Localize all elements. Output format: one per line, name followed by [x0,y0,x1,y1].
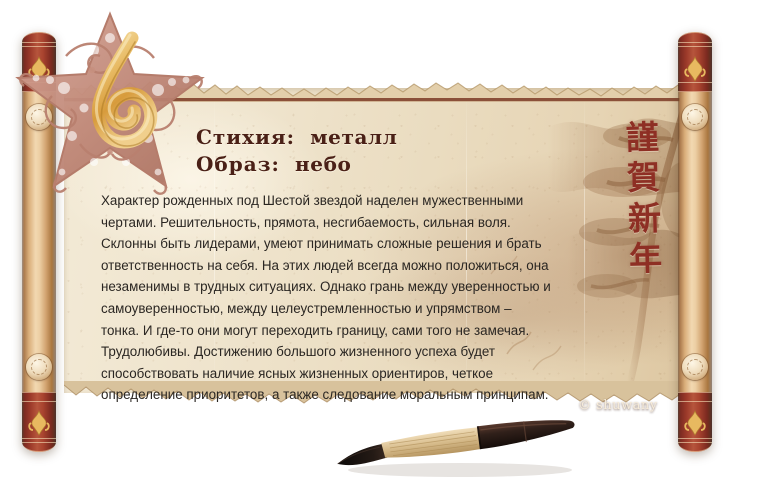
calligraphy-char: 賀 [615,158,672,200]
scroll-illustration: Стихия: металл Образ: небо Характер рожд… [0,0,765,484]
medallion-icon [26,354,52,380]
paragraph: Трудолюбивы. Достижению большого жизненн… [101,341,551,406]
rod-shaft [678,32,712,452]
fleur-de-lis-icon [683,409,707,437]
heading-image-value: небо [295,152,351,176]
paragraph: Характер рожденных под Шестой звездой на… [101,190,551,341]
chinese-calligraphy-column: 謹 賀 新 年 [614,117,674,279]
calligraphy-char: 新 [616,198,673,240]
heading-image: Образ: небо [196,151,397,178]
fleur-de-lis-icon [27,409,51,437]
heading-element-value: металл [310,125,397,149]
filigree-star-icon [6,4,216,204]
medallion-icon [682,104,708,130]
watermark: © shuwany [578,398,658,413]
scroll-rod-right [678,32,712,452]
fleur-de-lis-icon [683,55,707,83]
description-text: Характер рожденных под Шестой звездой на… [101,190,551,406]
rod-cap-top [678,32,712,92]
heading-element: Стихия: металл [196,124,397,151]
medallion-icon [682,354,708,380]
rod-cap-bottom [678,392,712,452]
rod-cap-bottom [22,392,56,452]
calligraphy-brush-icon [330,404,585,482]
calligraphy-char: 年 [617,238,674,280]
calligraphy-char: 謹 [614,117,671,159]
attribute-headings: Стихия: металл Образ: небо [196,124,397,178]
